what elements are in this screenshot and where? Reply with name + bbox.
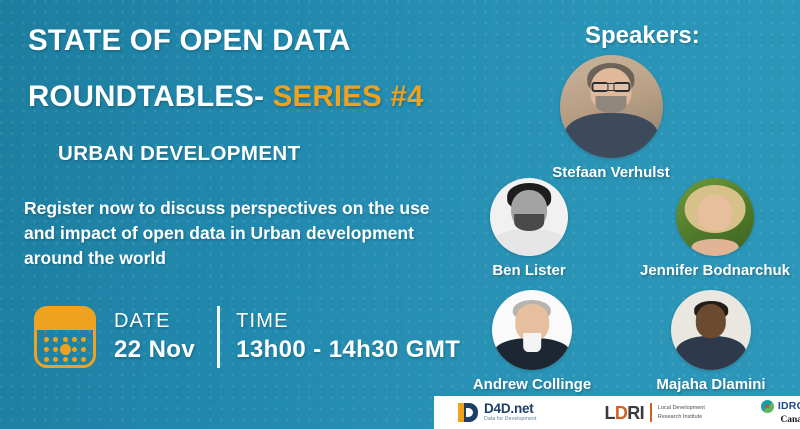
calendar-icon-header <box>37 309 93 330</box>
ldri-divider <box>650 403 652 422</box>
speaker-card-jennifer-bodnarchuk: Jennifer Bodnarchuk <box>635 178 795 279</box>
ldri-tagline: Local Development Research Institute <box>658 404 705 421</box>
time-value: 13h00 - 14h30 GMT <box>236 336 460 365</box>
promo-poster: STATE OF OPEN DATA ROUNDTABLES- SERIES #… <box>0 0 800 429</box>
logo-ldri: LDRI Local Development Research Institut… <box>604 403 704 422</box>
ldri-letter-d: D <box>615 403 627 423</box>
avatar <box>671 290 751 370</box>
left-content-column: STATE OF OPEN DATA ROUNDTABLES- SERIES #… <box>0 0 470 429</box>
avatar <box>676 178 754 256</box>
speakers-heading: Speakers: <box>585 22 700 50</box>
speaker-name: Majaha Dlamini <box>641 376 781 393</box>
ldri-wordmark: LDRI <box>604 404 644 422</box>
avatar <box>560 55 663 158</box>
avatar <box>490 178 568 256</box>
date-label: DATE <box>114 309 195 334</box>
headline-line-2: ROUNDTABLES- SERIES #4 <box>28 82 458 112</box>
time-label: TIME <box>236 309 460 334</box>
d4d-square-mark-icon <box>458 402 479 423</box>
idrc-wordmark: IDRC · CRDI <box>778 401 800 412</box>
portrait-illustration <box>671 290 751 370</box>
speaker-card-stefaan-verhulst: Stefaan Verhulst <box>549 55 673 181</box>
idrc-globe-maple-leaf-icon <box>761 400 774 413</box>
canada-wordmark-text: Canad <box>781 416 800 426</box>
speaker-card-majaha-dlamini: Majaha Dlamini <box>641 290 781 393</box>
portrait-illustration <box>490 178 568 256</box>
headline-line-2-main: ROUNDTABLES- <box>28 80 264 113</box>
ldri-tagline-line-2: Research Institute <box>658 413 705 421</box>
speaker-card-andrew-collinge: Andrew Collinge <box>463 290 601 393</box>
headline-series-accent: SERIES #4 <box>273 80 424 113</box>
date-time-divider <box>217 306 220 368</box>
logo-idrc-crdi: IDRC · CRDI Canada <box>761 400 800 426</box>
canada-wordmark: Canada <box>781 416 800 426</box>
event-topic-subtitle: URBAN DEVELOPMENT <box>58 142 301 166</box>
logo-d4d-net: D4D.net Data for Development <box>458 402 536 423</box>
portrait-illustration <box>560 55 663 158</box>
speaker-name: Ben Lister <box>470 262 588 279</box>
date-time-strip: DATE 22 Nov TIME 13h00 - 14h30 GMT <box>34 306 460 368</box>
speaker-card-ben-lister: Ben Lister <box>470 178 588 279</box>
d4d-tagline: Data for Development <box>484 417 536 422</box>
date-value: 22 Nov <box>114 336 195 365</box>
avatar <box>492 290 572 370</box>
calendar-icon <box>34 306 96 368</box>
speaker-name: Andrew Collinge <box>463 376 601 393</box>
headline-line-1: STATE OF OPEN DATA <box>28 26 458 56</box>
portrait-illustration <box>492 290 572 370</box>
ldri-letters-ri: RI <box>627 403 644 423</box>
partner-logo-bar: D4D.net Data for Development LDRI Local … <box>434 396 800 429</box>
speaker-name: Jennifer Bodnarchuk <box>635 262 795 279</box>
ldri-letter-l: L <box>604 403 614 423</box>
calendar-icon-dot-grid <box>42 335 88 364</box>
d4d-wordmark: D4D.net <box>484 402 536 416</box>
date-group: DATE 22 Nov <box>114 309 195 365</box>
ldri-tagline-line-1: Local Development <box>658 404 705 412</box>
event-description: Register now to discuss perspectives on … <box>24 196 444 271</box>
portrait-illustration <box>676 178 754 256</box>
headline-block: STATE OF OPEN DATA ROUNDTABLES- SERIES #… <box>28 26 458 111</box>
time-group: TIME 13h00 - 14h30 GMT <box>236 309 460 365</box>
